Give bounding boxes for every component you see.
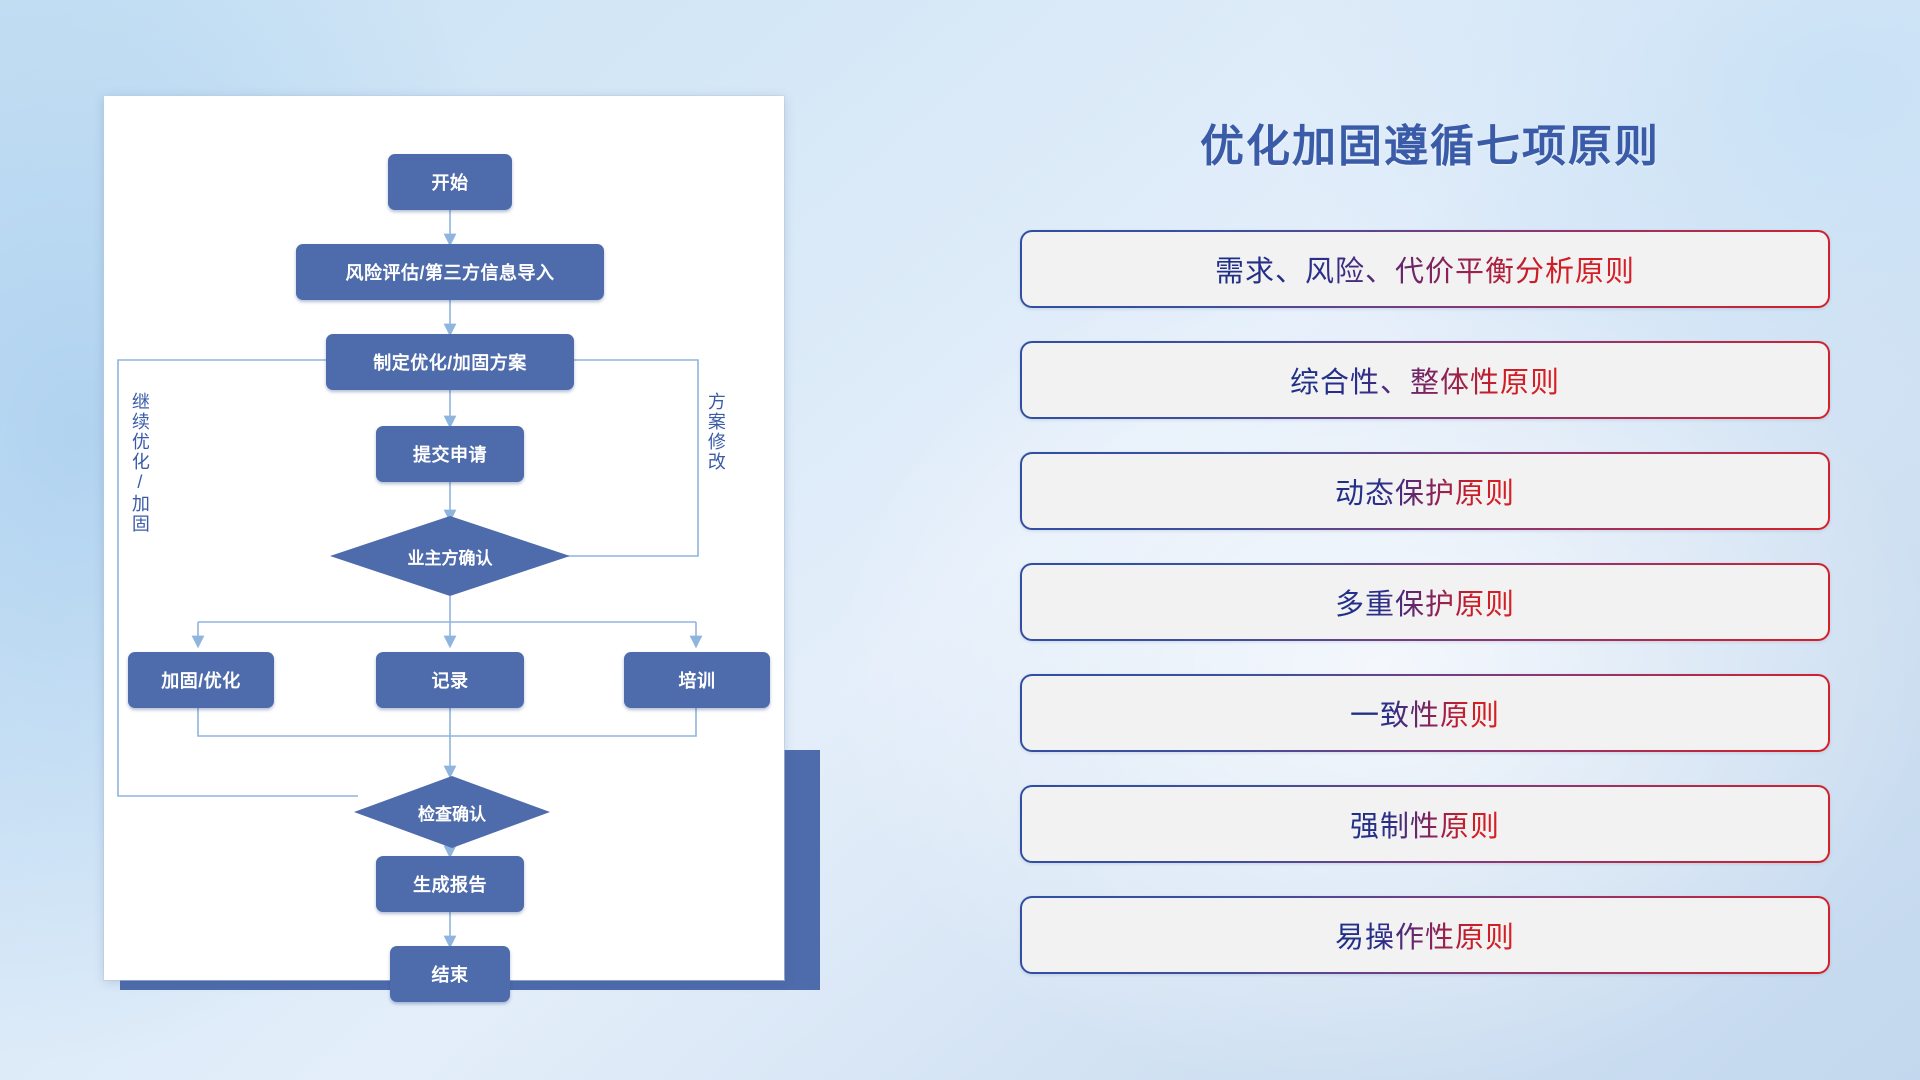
flow-node-label: 提交申请	[413, 441, 487, 467]
flow-edge-label-continue-optimize: 继续优化/加固	[130, 392, 149, 534]
principle-label: 多重保护原则	[1335, 581, 1515, 623]
flow-node-end: 结束	[390, 946, 510, 1002]
flow-node-plan: 制定优化/加固方案	[326, 334, 574, 390]
principle-label: 易操作性原则	[1335, 914, 1515, 956]
principle-card[interactable]: 强制性原则	[1020, 785, 1830, 863]
flow-node-start: 开始	[388, 154, 512, 210]
principle-card[interactable]: 一致性原则	[1020, 674, 1830, 752]
principle-label: 强制性原则	[1350, 803, 1500, 845]
principle-card[interactable]: 多重保护原则	[1020, 563, 1830, 641]
flow-node-training: 培训	[624, 652, 770, 708]
principle-card[interactable]: 需求、风险、代价平衡分析原则	[1020, 230, 1830, 308]
flow-node-generate-report: 生成报告	[376, 856, 524, 912]
principle-label: 需求、风险、代价平衡分析原则	[1215, 248, 1635, 290]
flow-node-label: 记录	[432, 667, 469, 693]
flow-node-label: 检查确认	[418, 800, 486, 825]
flow-node-label: 培训	[679, 667, 716, 693]
flow-node-label: 加固/优化	[161, 667, 241, 693]
principle-label: 综合性、整体性原则	[1290, 359, 1560, 401]
principle-label: 一致性原则	[1350, 692, 1500, 734]
principle-label: 动态保护原则	[1335, 470, 1515, 512]
page-title: 优化加固遵循七项原则	[1020, 110, 1840, 174]
flowchart-card: 开始 风险评估/第三方信息导入 制定优化/加固方案 提交申请 业主方确认 加固/…	[104, 96, 784, 980]
flow-node-inspection-confirm: 检查确认	[354, 776, 550, 848]
flow-node-label: 开始	[432, 169, 469, 195]
flow-node-label: 业主方确认	[408, 544, 493, 569]
flow-node-label: 结束	[432, 961, 469, 987]
principle-card[interactable]: 综合性、整体性原则	[1020, 341, 1830, 419]
flow-node-label: 制定优化/加固方案	[373, 349, 527, 375]
flow-node-record: 记录	[376, 652, 524, 708]
principle-card[interactable]: 易操作性原则	[1020, 896, 1830, 974]
flow-node-reinforce: 加固/优化	[128, 652, 274, 708]
principle-list: 需求、风险、代价平衡分析原则 综合性、整体性原则 动态保护原则 多重保护原则 一…	[1020, 230, 1830, 1007]
principle-card[interactable]: 动态保护原则	[1020, 452, 1830, 530]
principles-panel: 优化加固遵循七项原则 需求、风险、代价平衡分析原则 综合性、整体性原则 动态保护…	[1020, 0, 1920, 1080]
flow-node-submit-application: 提交申请	[376, 426, 524, 482]
flow-edge-label-plan-revision: 方案修改	[706, 392, 725, 472]
flow-node-risk-assessment: 风险评估/第三方信息导入	[296, 244, 604, 300]
flowchart-panel: 开始 风险评估/第三方信息导入 制定优化/加固方案 提交申请 业主方确认 加固/…	[0, 0, 820, 1080]
flow-node-label: 风险评估/第三方信息导入	[346, 259, 555, 285]
flow-node-owner-confirm: 业主方确认	[330, 516, 570, 596]
flow-node-label: 生成报告	[413, 871, 487, 897]
